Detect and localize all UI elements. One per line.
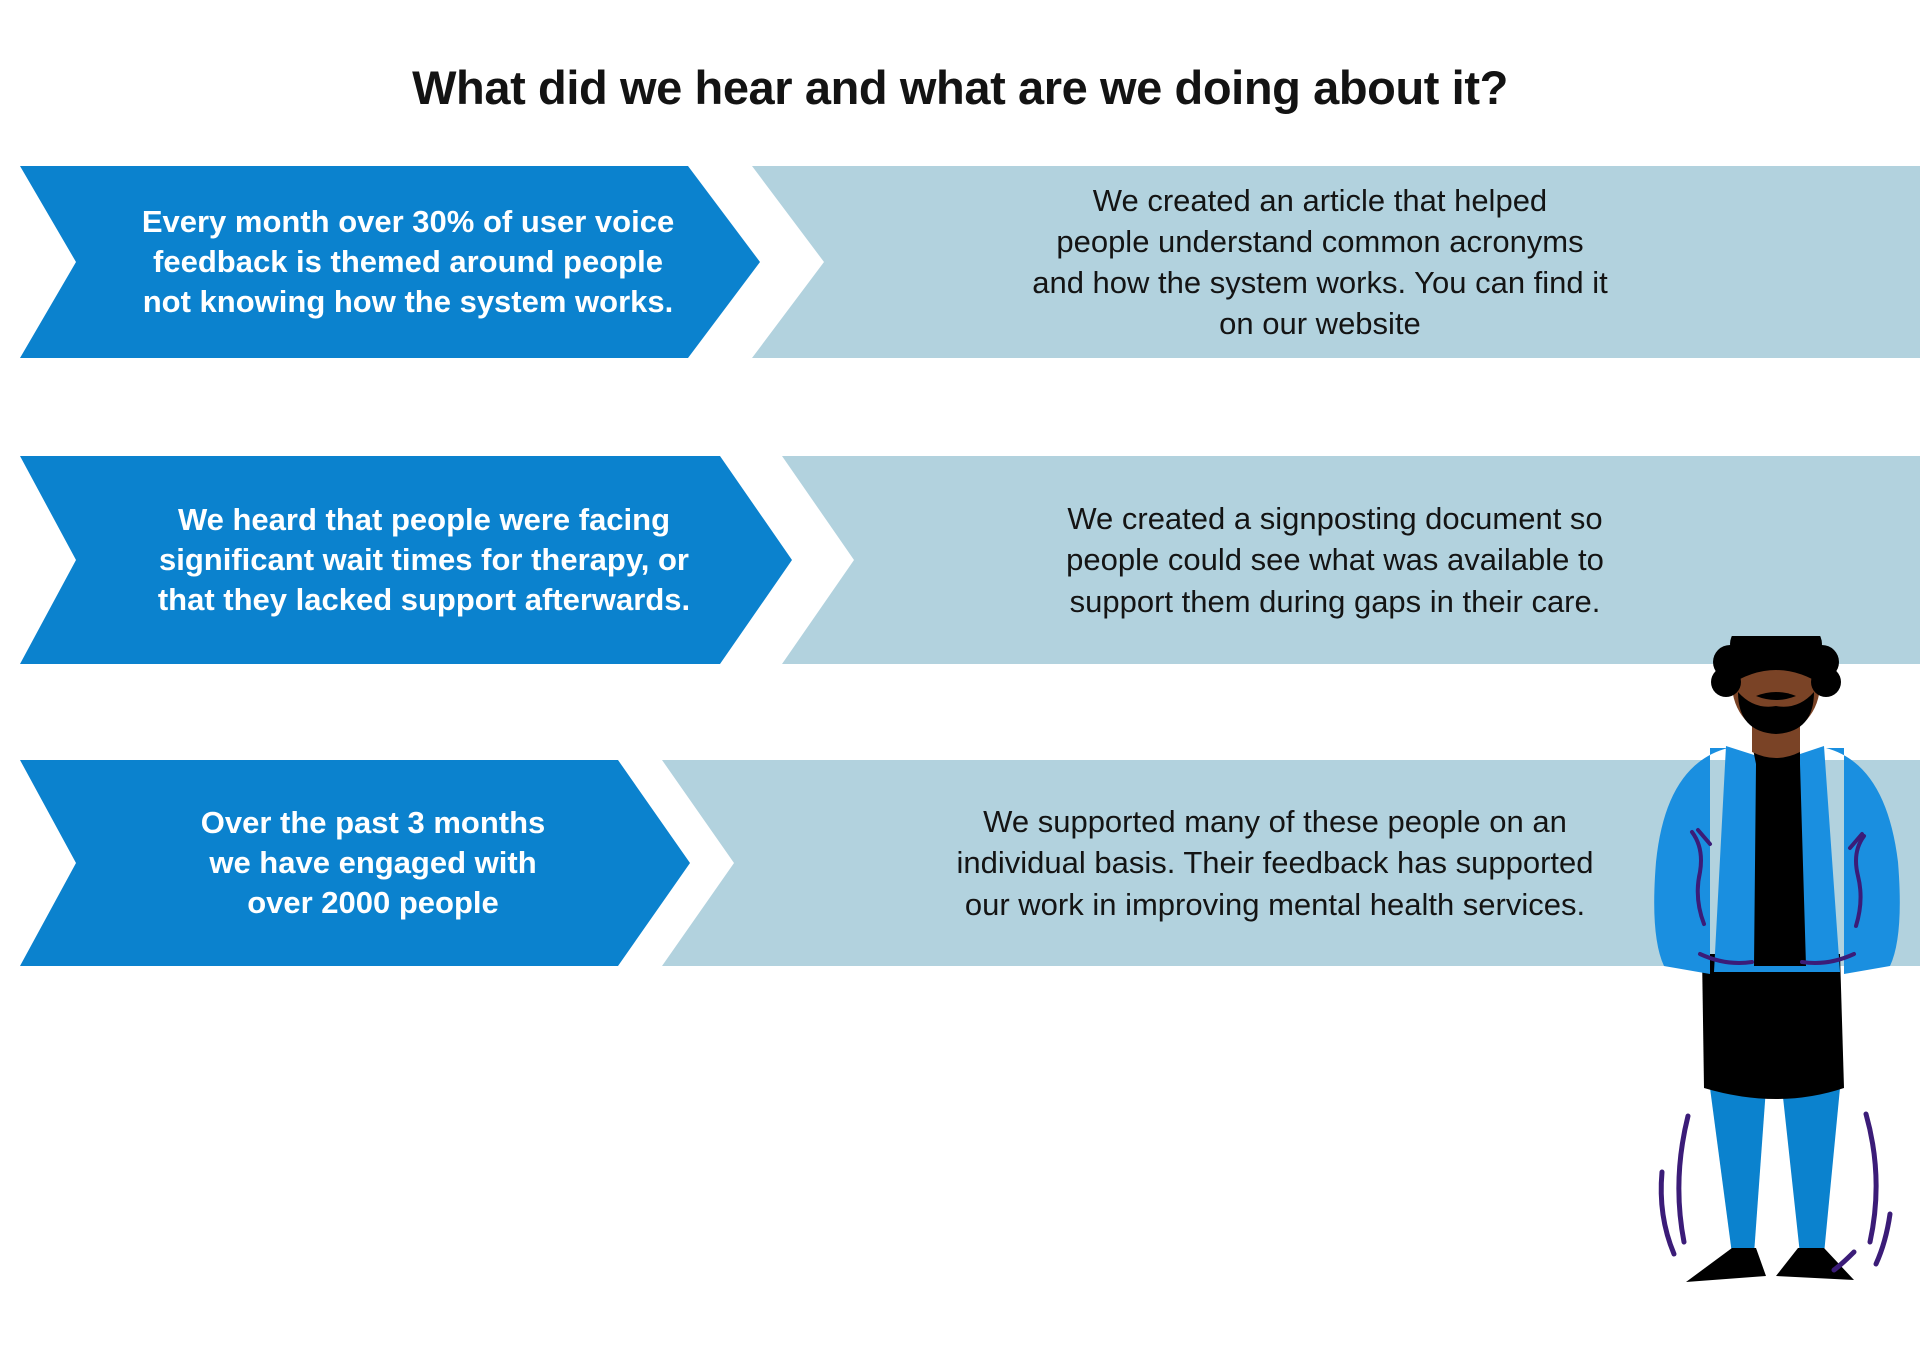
heard-chevron-3: Over the past 3 months we have engaged w… <box>20 760 690 966</box>
neck-shape <box>1752 702 1800 758</box>
did-text-2: We created a signposting document so peo… <box>946 498 1684 622</box>
heard-chevron-2: We heard that people were facing signifi… <box>20 456 792 664</box>
beard-shape <box>1738 692 1814 734</box>
page-title: What did we hear and what are we doing a… <box>0 62 1920 114</box>
moustache-shape <box>1756 692 1796 700</box>
trousers-shape <box>1710 1088 1840 1254</box>
heard-text-1: Every month over 30% of user voice feedb… <box>80 202 700 323</box>
did-panel-3: We supported many of these people on an … <box>590 760 1920 966</box>
standing-person-illustration <box>1648 636 1920 1357</box>
bag-shape <box>1702 954 1844 1099</box>
heard-text-3: Over the past 3 months we have engaged w… <box>139 803 572 924</box>
heard-text-2: We heard that people were facing signifi… <box>96 500 716 621</box>
did-panel-2: We created a signposting document so peo… <box>710 456 1920 664</box>
row-2: We heard that people were facing signifi… <box>0 456 1920 664</box>
shoes-shape <box>1686 1248 1854 1282</box>
row-1: Every month over 30% of user voice feedb… <box>0 166 1920 358</box>
did-panel-1: We created an article that helped people… <box>680 166 1920 358</box>
did-text-3: We supported many of these people on an … <box>836 801 1673 925</box>
heard-chevron-1: Every month over 30% of user voice feedb… <box>20 166 760 358</box>
did-text-1: We created an article that helped people… <box>912 180 1688 345</box>
row-3: Over the past 3 months we have engaged w… <box>0 760 1920 966</box>
motion-lines <box>1661 1114 1890 1270</box>
